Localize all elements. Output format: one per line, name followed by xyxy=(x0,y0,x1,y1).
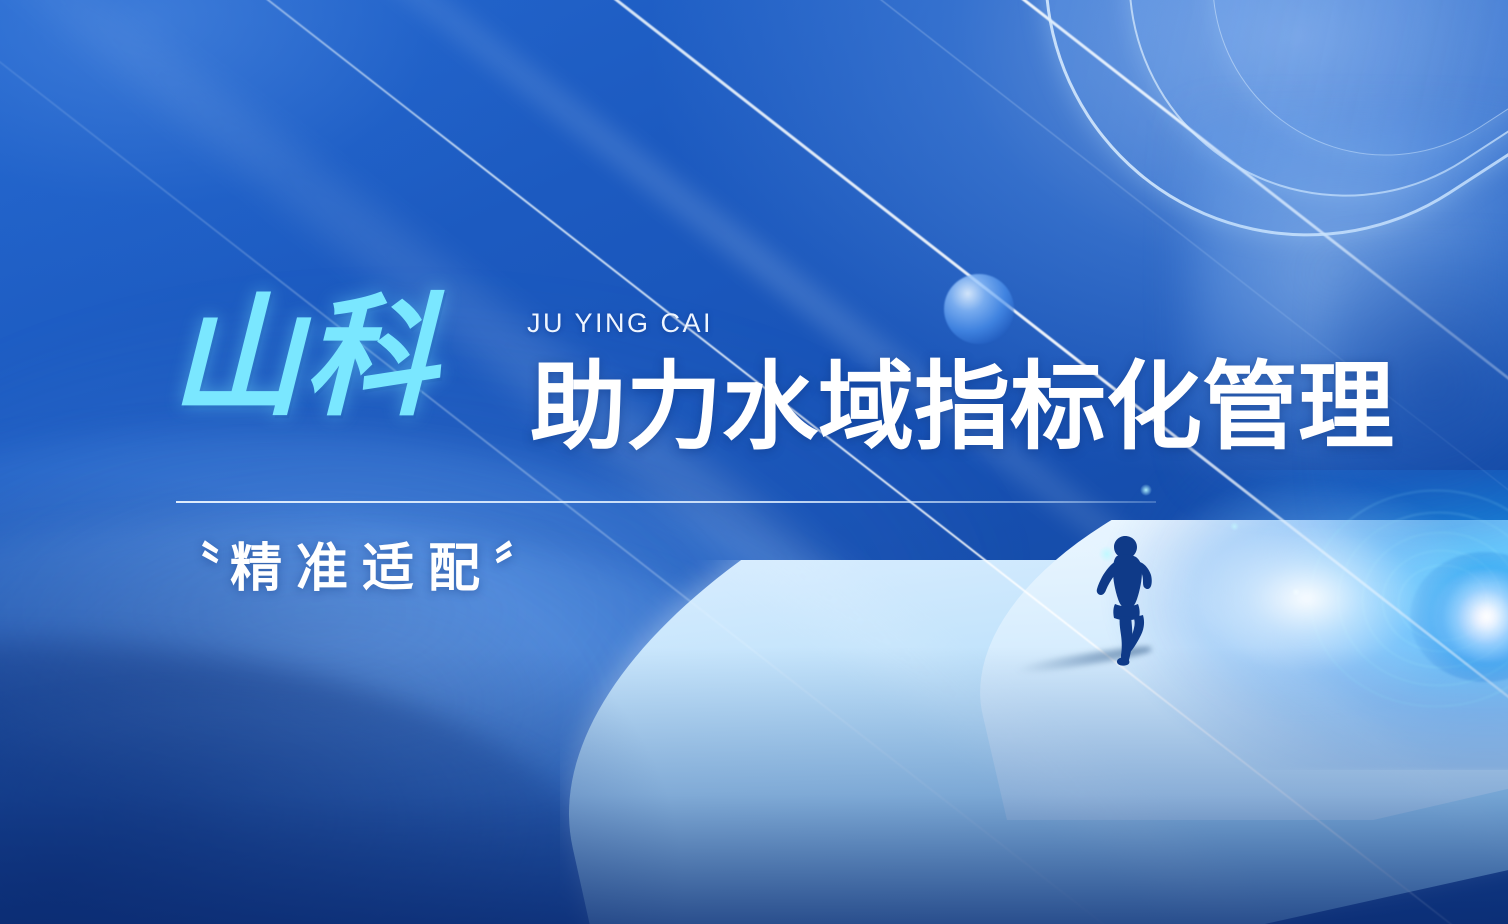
brand-pinyin-label: JU YING CAI xyxy=(527,308,713,339)
tagline: 〝精准适配〞 xyxy=(168,543,556,595)
banner-canvas: 山科 JU YING CAI 助力水域指标化管理 〝精准适配〞 xyxy=(0,0,1508,924)
tagline-text: 精准适配 xyxy=(230,540,494,598)
tagline-quote-close: 〞 xyxy=(494,540,556,598)
brand-logo-wordmark: 山科 xyxy=(170,292,438,424)
divider-line xyxy=(176,501,1156,503)
headline-text-group: 山科 JU YING CAI 助力水域指标化管理 〝精准适配〞 xyxy=(0,0,1508,924)
tagline-quote-open: 〝 xyxy=(168,540,230,598)
page-title: 助力水域指标化管理 xyxy=(530,358,1394,458)
